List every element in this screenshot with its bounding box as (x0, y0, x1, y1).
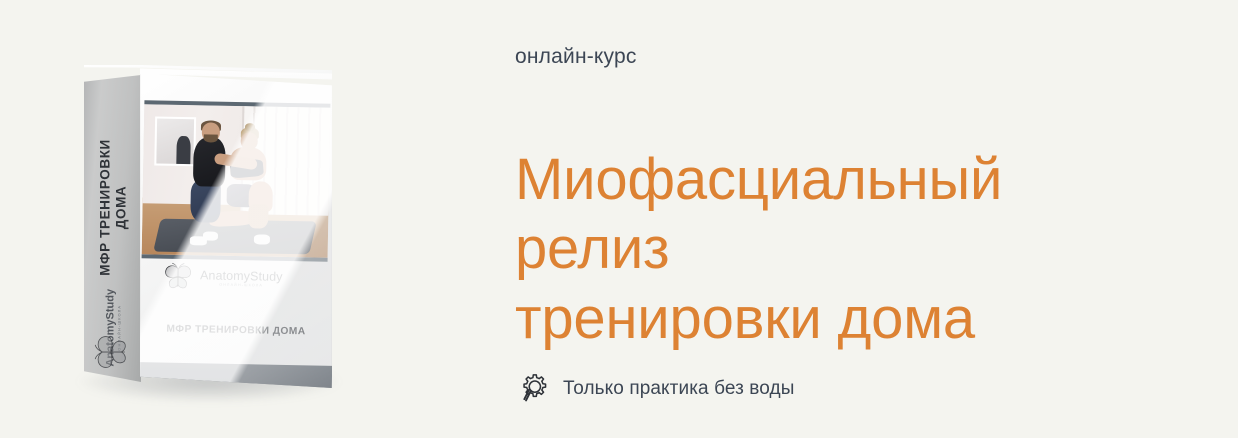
brand-logo: AnatomyStudy ОНЛАЙН-ШКОЛА (162, 262, 313, 297)
product-box-spine: МФР ТРЕНИРОВКИ ДОМА AnatomyStudy ОНЛАЙН-… (84, 75, 141, 382)
product-box-front: AnatomyStudy ОНЛАЙН-ШКОЛА МФР ТРЕНИРОВКИ… (140, 66, 332, 388)
brand-tagline: ОНЛАЙН-ШКОЛА (200, 284, 283, 289)
butterfly-icon (91, 333, 135, 371)
headline-line-3: тренировки дома (515, 284, 1175, 354)
brand-name: AnatomyStudy (200, 269, 283, 283)
banner-text-content: онлайн-курс Миофасциальный релиз трениро… (515, 0, 1195, 438)
headline-line-1: Миофасциальный (515, 145, 1175, 215)
butterfly-icon (162, 262, 195, 295)
headline-line-2: релиз (515, 214, 1175, 284)
course-promo-banner: МФР ТРЕНИРОВКИ ДОМА AnatomyStudy ОНЛАЙН-… (0, 0, 1238, 438)
product-box-front-lower: AnatomyStudy ОНЛАЙН-ШКОЛА МФР ТРЕНИРОВКИ… (140, 252, 332, 388)
product-box-footer-band (140, 362, 332, 388)
feature-text: Только практика без воды (563, 378, 794, 400)
product-box: МФР ТРЕНИРОВКИ ДОМА AnatomyStudy ОНЛАЙН-… (84, 66, 332, 388)
feature-highlight: Только практика без воды (517, 372, 794, 406)
page-title: Миофасциальный релиз тренировки дома (515, 145, 1175, 354)
course-type-label: онлайн-курс (515, 45, 637, 69)
course-cover-photo (142, 100, 331, 261)
product-box-stage: МФР ТРЕНИРОВКИ ДОМА AnatomyStudy ОНЛАЙН-… (0, 0, 470, 438)
product-box-title: МФР ТРЕНИРОВКИ ДОМА (140, 323, 332, 338)
gear-search-icon (517, 372, 551, 406)
